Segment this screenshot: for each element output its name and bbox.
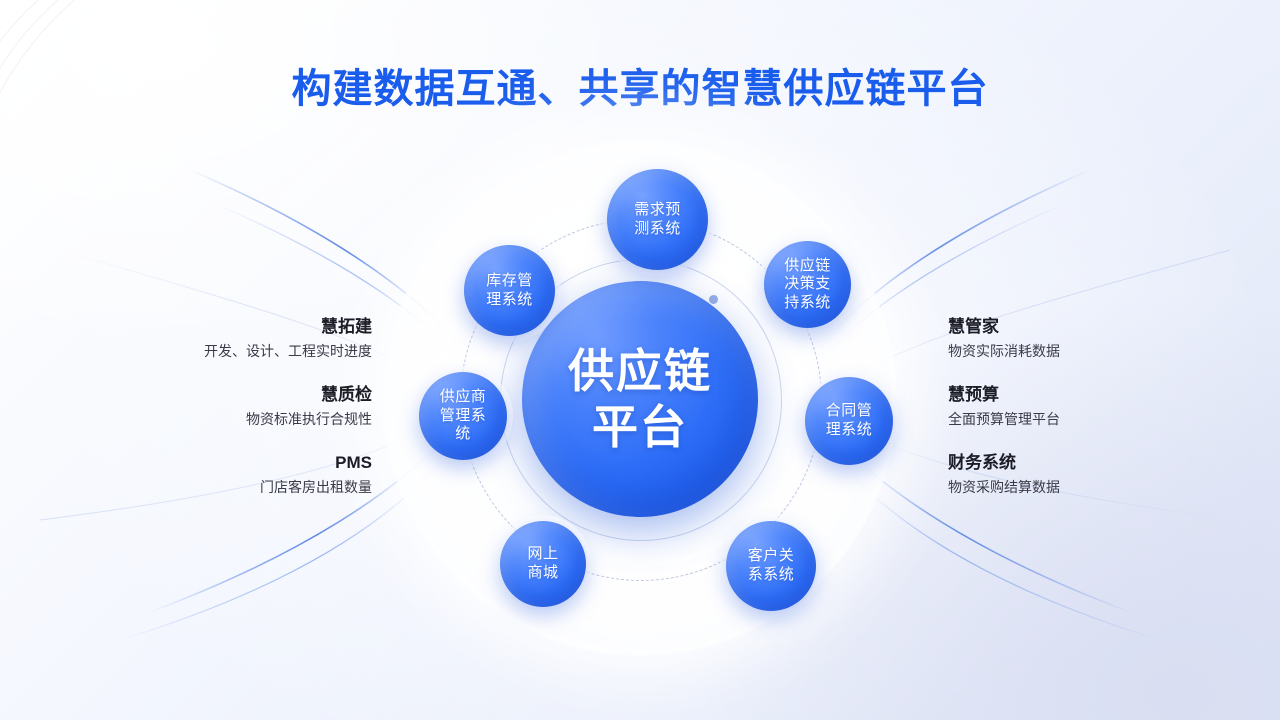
bubble-inventory-mgmt[interactable]: 库存管理系统 — [464, 245, 555, 336]
bubble-label-line: 管理系 — [436, 407, 491, 426]
bubble-label-line: 测系统 — [630, 220, 685, 239]
bubble-label-line: 系系统 — [744, 566, 799, 585]
bubble-label-line: 决策支 — [780, 275, 835, 294]
label-desc: 开发、设计、工程实时进度 — [140, 343, 372, 361]
bubble-label-line: 合同管 — [822, 402, 877, 421]
bubble-online-mall[interactable]: 网上商城 — [500, 521, 586, 607]
label-item-huituojian[interactable]: 慧拓建 开发、设计、工程实时进度 — [140, 318, 372, 360]
label-item-pms[interactable]: PMS 门店客房出租数量 — [140, 454, 372, 496]
bubble-label-line: 商城 — [523, 564, 562, 583]
bubble-label: 需求预测系统 — [630, 201, 685, 238]
bubble-label-line: 供应链 — [780, 257, 835, 276]
bubble-label-line: 库存管 — [482, 272, 537, 291]
label-title: 慧管家 — [948, 318, 1188, 337]
slide-canvas: 构建数据互通、共享的智慧供应链平台 供应链 平台 需求预测系统供应链决策支持系统… — [0, 0, 1280, 720]
label-desc: 物资标准执行合规性 — [140, 411, 372, 429]
bubble-label: 客户关系系统 — [744, 547, 799, 584]
bubble-label: 库存管理系统 — [482, 272, 537, 309]
core-label-line-2: 平台 — [568, 399, 712, 455]
label-item-huiyusuan[interactable]: 慧预算 全面预算管理平台 — [948, 386, 1188, 428]
bubble-label-line: 统 — [436, 425, 491, 444]
bubble-crm-system[interactable]: 客户关系系统 — [726, 521, 816, 611]
bubble-label-line: 客户关 — [744, 547, 799, 566]
bubble-supplier-mgmt[interactable]: 供应商管理系统 — [419, 372, 507, 460]
ring-marker-dot — [709, 295, 718, 304]
bubble-demand-forecast[interactable]: 需求预测系统 — [607, 169, 708, 270]
core-sphere-label: 供应链 平台 — [568, 343, 712, 455]
label-title: PMS — [140, 454, 372, 473]
bubble-label-line: 持系统 — [780, 294, 835, 313]
label-item-huiguanjia[interactable]: 慧管家 物资实际消耗数据 — [948, 318, 1188, 360]
bubble-label: 供应商管理系统 — [436, 388, 491, 444]
bubble-label: 供应链决策支持系统 — [780, 257, 835, 313]
label-title: 慧拓建 — [140, 318, 372, 337]
bubble-contract-mgmt[interactable]: 合同管理系统 — [805, 377, 893, 465]
label-title: 慧质检 — [140, 386, 372, 405]
bubble-label-line: 理系统 — [482, 291, 537, 310]
label-desc: 门店客房出租数量 — [140, 479, 372, 497]
bubble-label: 网上商城 — [523, 545, 562, 582]
core-sphere[interactable]: 供应链 平台 — [522, 281, 758, 517]
bubble-label-line: 理系统 — [822, 421, 877, 440]
core-label-line-1: 供应链 — [568, 343, 712, 399]
bubble-label-line: 供应商 — [436, 388, 491, 407]
label-desc: 物资实际消耗数据 — [948, 343, 1188, 361]
page-title: 构建数据互通、共享的智慧供应链平台 — [0, 56, 1280, 114]
bubble-label-line: 网上 — [523, 545, 562, 564]
bubble-label-line: 需求预 — [630, 201, 685, 220]
label-title: 财务系统 — [948, 454, 1188, 473]
label-item-caiwu[interactable]: 财务系统 物资采购结算数据 — [948, 454, 1188, 496]
bubble-label: 合同管理系统 — [822, 402, 877, 439]
label-desc: 全面预算管理平台 — [948, 411, 1188, 429]
label-desc: 物资采购结算数据 — [948, 479, 1188, 497]
label-item-huizhijian[interactable]: 慧质检 物资标准执行合规性 — [140, 386, 372, 428]
label-title: 慧预算 — [948, 386, 1188, 405]
bubble-scm-decision[interactable]: 供应链决策支持系统 — [764, 241, 851, 328]
left-label-group: 慧拓建 开发、设计、工程实时进度 慧质检 物资标准执行合规性 PMS 门店客房出… — [140, 318, 372, 523]
right-label-group: 慧管家 物资实际消耗数据 慧预算 全面预算管理平台 财务系统 物资采购结算数据 — [948, 318, 1188, 523]
